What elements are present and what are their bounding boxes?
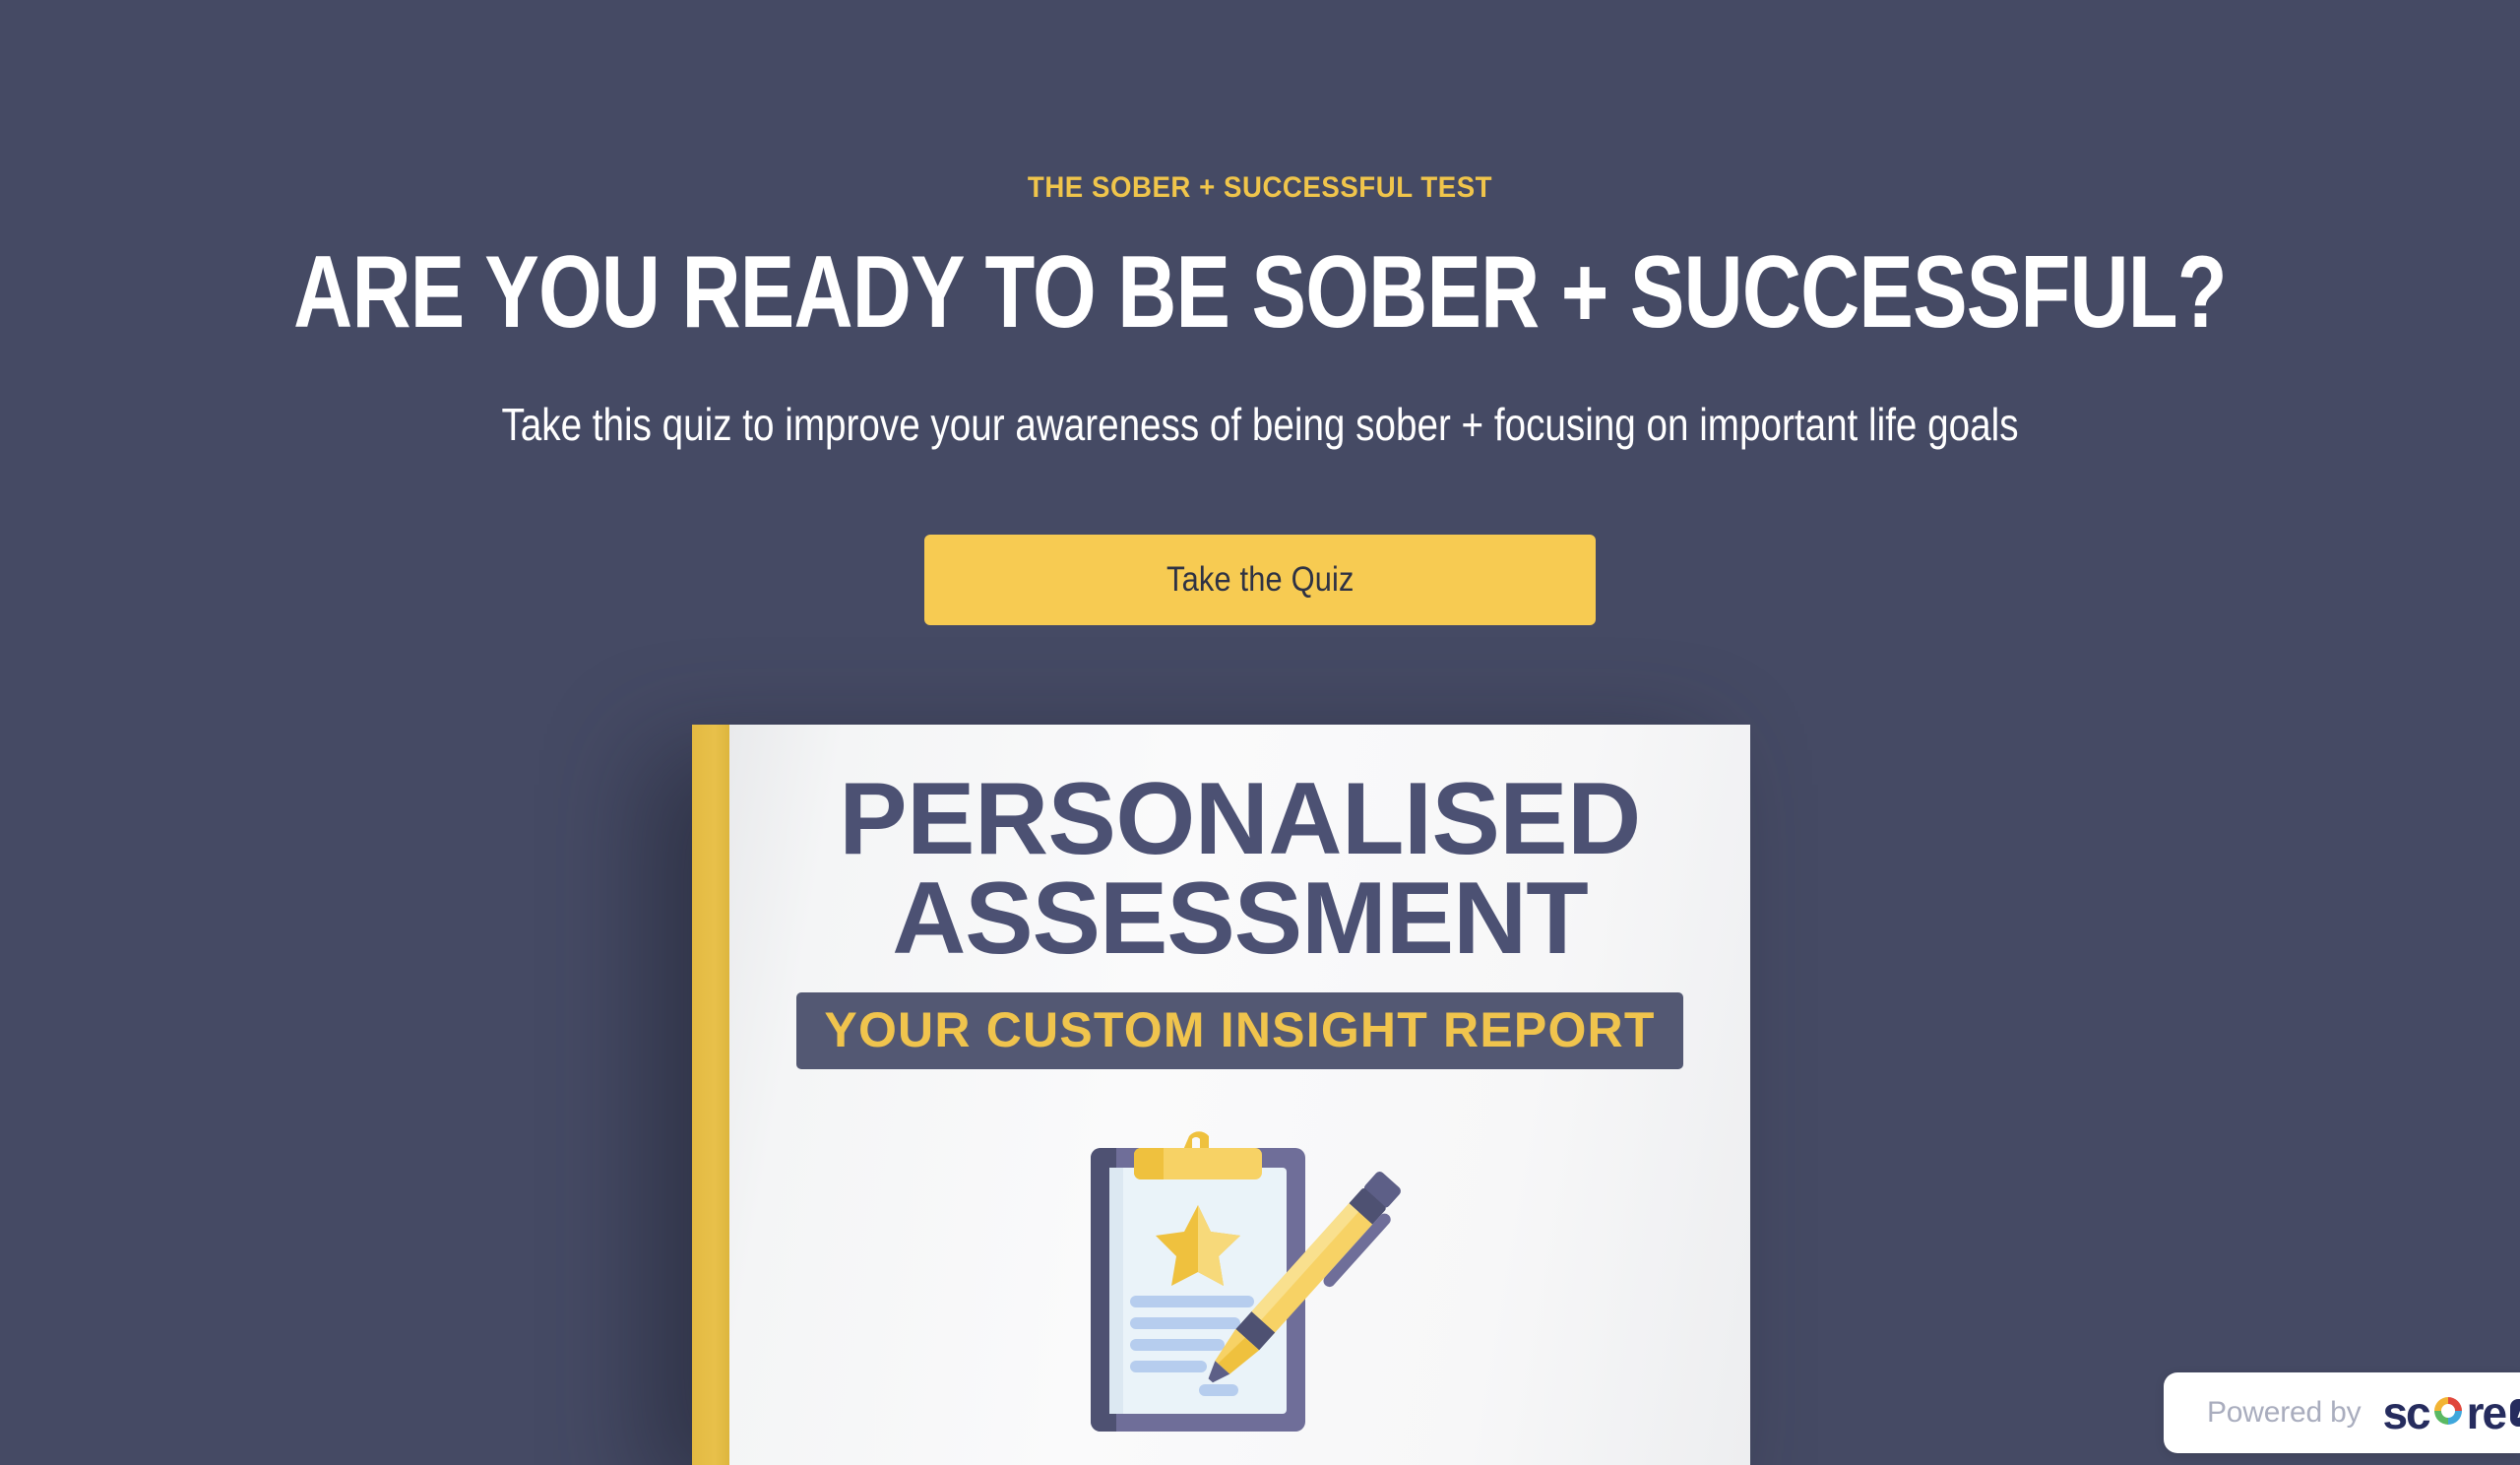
scoreapp-logo: sc re APP (2382, 1386, 2520, 1439)
scoreapp-wordmark: sc re (2382, 1386, 2505, 1439)
powered-by-label: Powered by (2207, 1396, 2361, 1430)
book-title-line-1: PERSONALISED (839, 762, 1641, 876)
clipboard-with-pen-icon (1073, 1120, 1408, 1450)
book-title-line-2: ASSESSMENT (839, 869, 1641, 969)
assessment-book-image: PERSONALISED ASSESSMENT YOUR CUSTOM INSI… (692, 725, 1750, 1465)
book-cover-title: PERSONALISED ASSESSMENT (839, 770, 1641, 969)
scoreapp-name-part-2: re (2467, 1386, 2505, 1439)
take-the-quiz-button[interactable]: Take the Quiz (924, 535, 1596, 625)
scoreapp-pie-icon (2430, 1386, 2466, 1439)
scoreapp-name-part-1: sc (2382, 1386, 2428, 1439)
hero-eyebrow: THE SOBER + SUCCESSFUL TEST (100, 171, 2419, 205)
book-spine (692, 725, 729, 1465)
book-cover-band: YOUR CUSTOM INSIGHT REPORT (796, 992, 1682, 1069)
cta-container: Take the Quiz (0, 535, 2520, 625)
page-title: ARE YOU READY TO BE SOBER + SUCCESSFUL? (252, 240, 2268, 345)
landing-page: THE SOBER + SUCCESSFUL TEST ARE YOU READ… (0, 0, 2520, 1465)
scoreapp-app-tag: APP (2510, 1399, 2520, 1427)
take-the-quiz-label: Take the Quiz (1166, 560, 1354, 600)
book-cover-content: PERSONALISED ASSESSMENT YOUR CUSTOM INSI… (729, 725, 1750, 1465)
powered-by-badge[interactable]: Powered by sc re APP (2164, 1372, 2520, 1453)
hero-subheadline: Take this quiz to improve your awareness… (202, 398, 2318, 452)
